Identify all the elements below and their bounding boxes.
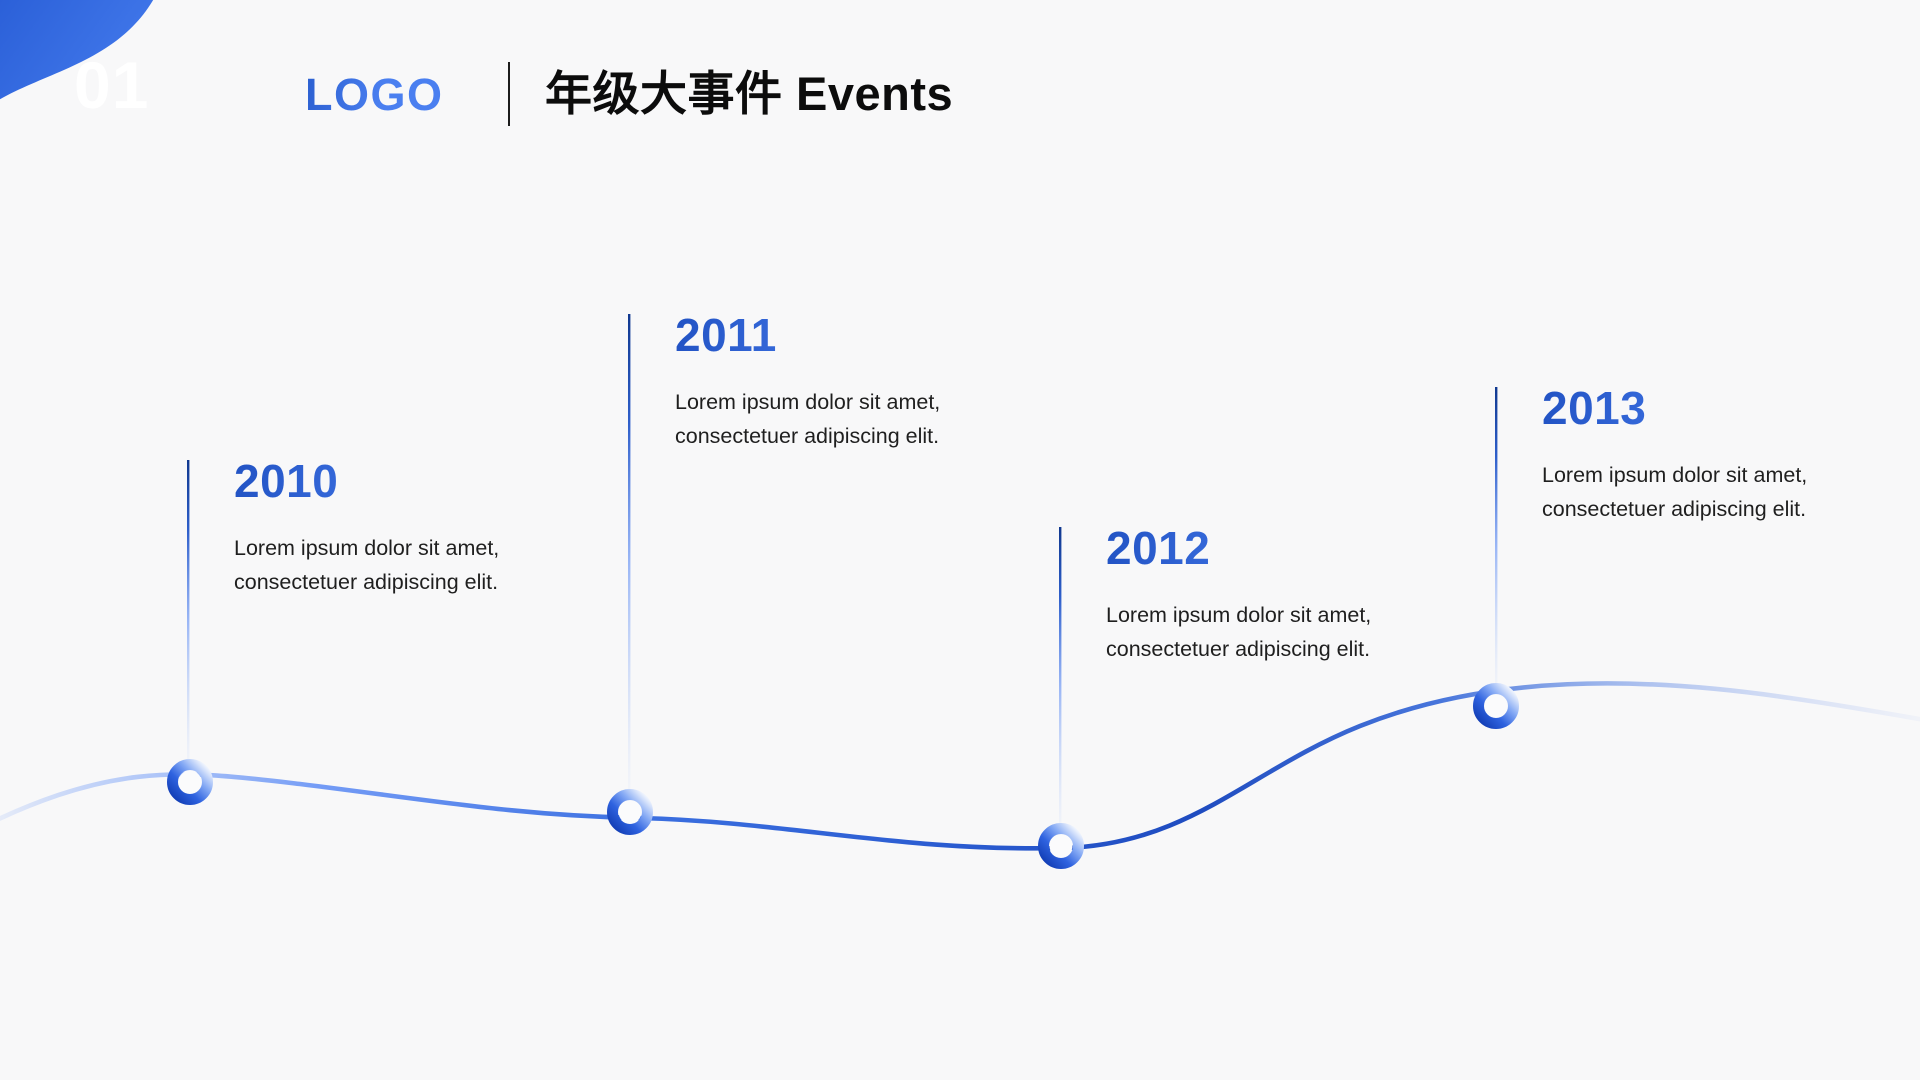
milestone-description: Lorem ipsum dolor sit amet, consectetuer… [675, 385, 943, 453]
milestone-description: Lorem ipsum dolor sit amet, consectetuer… [1106, 598, 1374, 666]
connector-line-2013 [1495, 387, 1497, 706]
timeline-node-2013[interactable] [1479, 689, 1514, 724]
milestone-body: 2013 Lorem ipsum dolor sit amet, consect… [1542, 385, 1842, 526]
milestone-body: 2011 Lorem ipsum dolor sit amet, consect… [675, 312, 975, 453]
milestone-body: 2012 Lorem ipsum dolor sit amet, consect… [1106, 525, 1406, 666]
connector-line-2010 [187, 460, 189, 782]
slide-canvas: 01 LOGO 年级大事件 Events [0, 0, 1920, 1080]
milestone-year-label: 2011 [675, 312, 975, 358]
timeline-node-2010[interactable] [173, 765, 208, 800]
timeline-node-2011[interactable] [613, 795, 648, 830]
milestone-description: Lorem ipsum dolor sit amet, consectetuer… [234, 531, 502, 599]
connector-line-2011 [628, 314, 630, 812]
milestone-year-label: 2010 [234, 458, 534, 504]
connector-line-2012 [1059, 527, 1061, 846]
timeline-node-2012[interactable] [1044, 829, 1079, 864]
milestone-body: 2010 Lorem ipsum dolor sit amet, consect… [234, 458, 534, 599]
milestone-year-label: 2012 [1106, 525, 1406, 571]
milestone-year-label: 2013 [1542, 385, 1842, 431]
milestone-description: Lorem ipsum dolor sit amet, consectetuer… [1542, 458, 1810, 526]
